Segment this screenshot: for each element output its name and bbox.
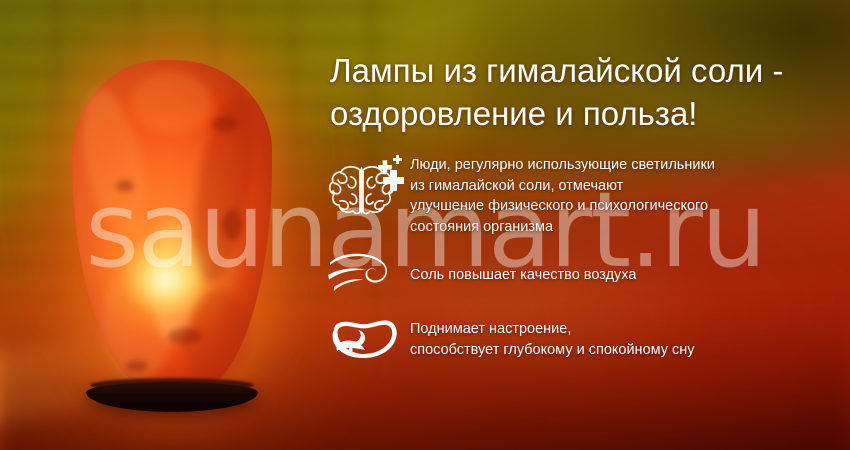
salt-lamp-promo-banner: saunamart.ru Лампы из гималайской соли -… xyxy=(0,0,850,450)
feature-item-air-quality: Соль повышает качество воздуха xyxy=(322,247,842,303)
lamp-wooden-base xyxy=(86,382,258,412)
sleeping-person-icon xyxy=(322,307,410,369)
salt-lamp-body xyxy=(72,60,272,392)
headline-line-2: оздоровление и польза! xyxy=(330,93,840,136)
feature-text-sleep: Поднимает настроение, способствует глубо… xyxy=(410,307,842,360)
feature-text-health: Люди, регулярно использующие светильники… xyxy=(410,152,842,237)
feature-text-air-quality: Соль повышает качество воздуха xyxy=(410,247,842,286)
feature-item-health: Люди, регулярно использующие светильники… xyxy=(322,152,842,237)
feature-line: улучшение физического и психологического xyxy=(410,196,842,217)
lamp-mineral-spot xyxy=(116,180,134,192)
lamp-mineral-spot xyxy=(222,210,242,240)
headline-line-1: Лампы из гималайской соли - xyxy=(330,50,840,93)
feature-line: состояния организма xyxy=(410,217,842,238)
wind-swirl-icon xyxy=(322,247,410,303)
page-title: Лампы из гималайской соли - оздоровление… xyxy=(330,50,840,136)
salt-lamp-image xyxy=(72,60,272,420)
feature-line: Поднимает настроение, xyxy=(410,319,842,340)
feature-line: способствует глубокому и спокойному сну xyxy=(410,340,842,361)
feature-list: Люди, регулярно использующие светильники… xyxy=(322,152,842,379)
brain-plus-icon xyxy=(322,152,410,226)
lamp-mineral-spot xyxy=(168,328,202,344)
lamp-inner-light xyxy=(130,246,204,312)
lamp-mineral-spot xyxy=(212,116,238,132)
feature-line: Люди, регулярно использующие светильники xyxy=(410,155,842,176)
lamp-mineral-spot xyxy=(126,360,148,372)
lamp-facet xyxy=(130,72,212,134)
feature-line: из гималайской соли, отмечают xyxy=(410,176,842,197)
feature-line: Соль повышает качество воздуха xyxy=(410,265,842,286)
feature-item-sleep: Поднимает настроение, способствует глубо… xyxy=(322,307,842,369)
